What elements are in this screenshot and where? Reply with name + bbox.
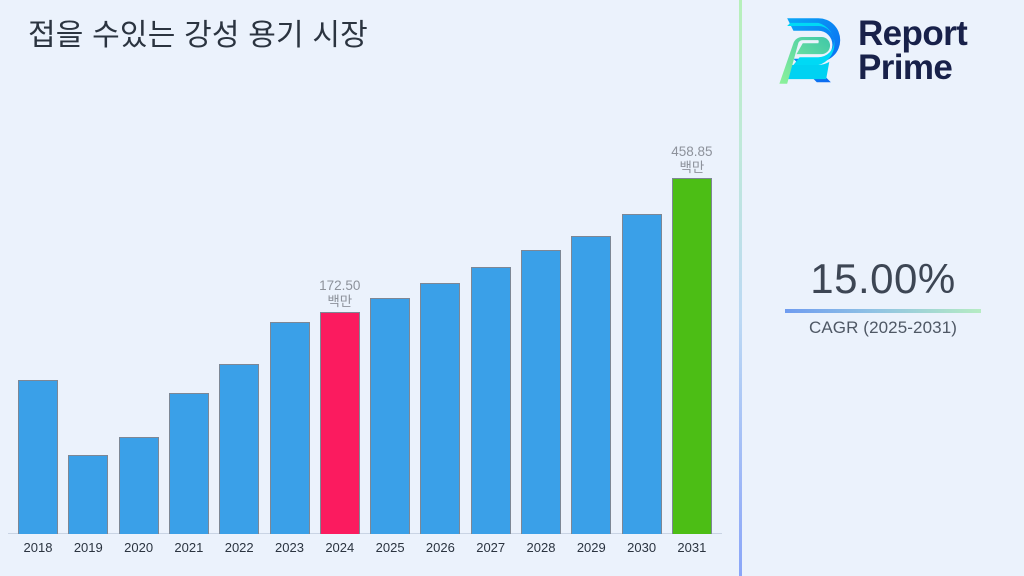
bar-rect-2019[interactable] (68, 455, 108, 534)
slide-root: 접을 수있는 강성 용기 시장 172.50 백만458.85 백만 20182… (0, 0, 1024, 576)
brand-name: Report Prime (858, 17, 967, 86)
bar-2031[interactable]: 458.85 백만 (672, 110, 712, 534)
brand-logo: Report Prime (770, 12, 967, 90)
bar-rect-2030[interactable] (622, 214, 662, 534)
bar-rect-2028[interactable] (521, 250, 561, 534)
chart-panel: 접을 수있는 강성 용기 시장 172.50 백만458.85 백만 20182… (0, 0, 740, 576)
brand-panel: Report Prime 15.00% CAGR (2025-2031) (742, 0, 1024, 576)
bar-rect-2024[interactable]: 172.50 백만 (320, 312, 360, 534)
brand-name-line2: Prime (858, 51, 967, 85)
cagr-divider-rule (785, 309, 981, 313)
bar-value-label-2031: 458.85 백만 (637, 144, 747, 179)
bar-2025[interactable] (370, 110, 410, 534)
bar-2028[interactable] (521, 110, 561, 534)
x-axis-line (8, 533, 722, 534)
bar-2023[interactable] (270, 110, 310, 534)
bar-rect-2022[interactable] (219, 364, 259, 534)
cagr-value: 15.00% (742, 255, 1024, 303)
bar-2026[interactable] (420, 110, 460, 534)
bar-rect-2026[interactable] (420, 283, 460, 534)
bar-2024[interactable]: 172.50 백만 (320, 110, 360, 534)
bar-rect-2025[interactable] (370, 298, 410, 534)
bar-2027[interactable] (471, 110, 511, 534)
bar-rect-2031[interactable]: 458.85 백만 (672, 178, 712, 534)
cagr-block: 15.00% CAGR (2025-2031) (742, 255, 1024, 338)
bar-rect-2018[interactable] (18, 380, 58, 534)
bar-2029[interactable] (571, 110, 611, 534)
bar-rect-2021[interactable] (169, 393, 209, 534)
bar-2020[interactable] (119, 110, 159, 534)
brand-name-line1: Report (858, 17, 967, 51)
bar-rect-2023[interactable] (270, 322, 310, 534)
bar-rect-2029[interactable] (571, 236, 611, 534)
bar-2021[interactable] (169, 110, 209, 534)
bar-2019[interactable] (68, 110, 108, 534)
page-title: 접을 수있는 강성 용기 시장 (28, 10, 368, 54)
x-axis-tick-labels: 2018201920202021202220232024202520262027… (0, 536, 730, 566)
bar-chart-plot-area: 172.50 백만458.85 백만 (0, 110, 730, 534)
x-tick-2031: 2031 (662, 540, 722, 555)
bar-rect-2020[interactable] (119, 437, 159, 534)
bar-2022[interactable] (219, 110, 259, 534)
bar-rect-2027[interactable] (471, 267, 511, 534)
report-prime-r-mark-icon (770, 12, 848, 90)
bar-2018[interactable] (18, 110, 58, 534)
cagr-caption: CAGR (2025-2031) (742, 318, 1024, 338)
